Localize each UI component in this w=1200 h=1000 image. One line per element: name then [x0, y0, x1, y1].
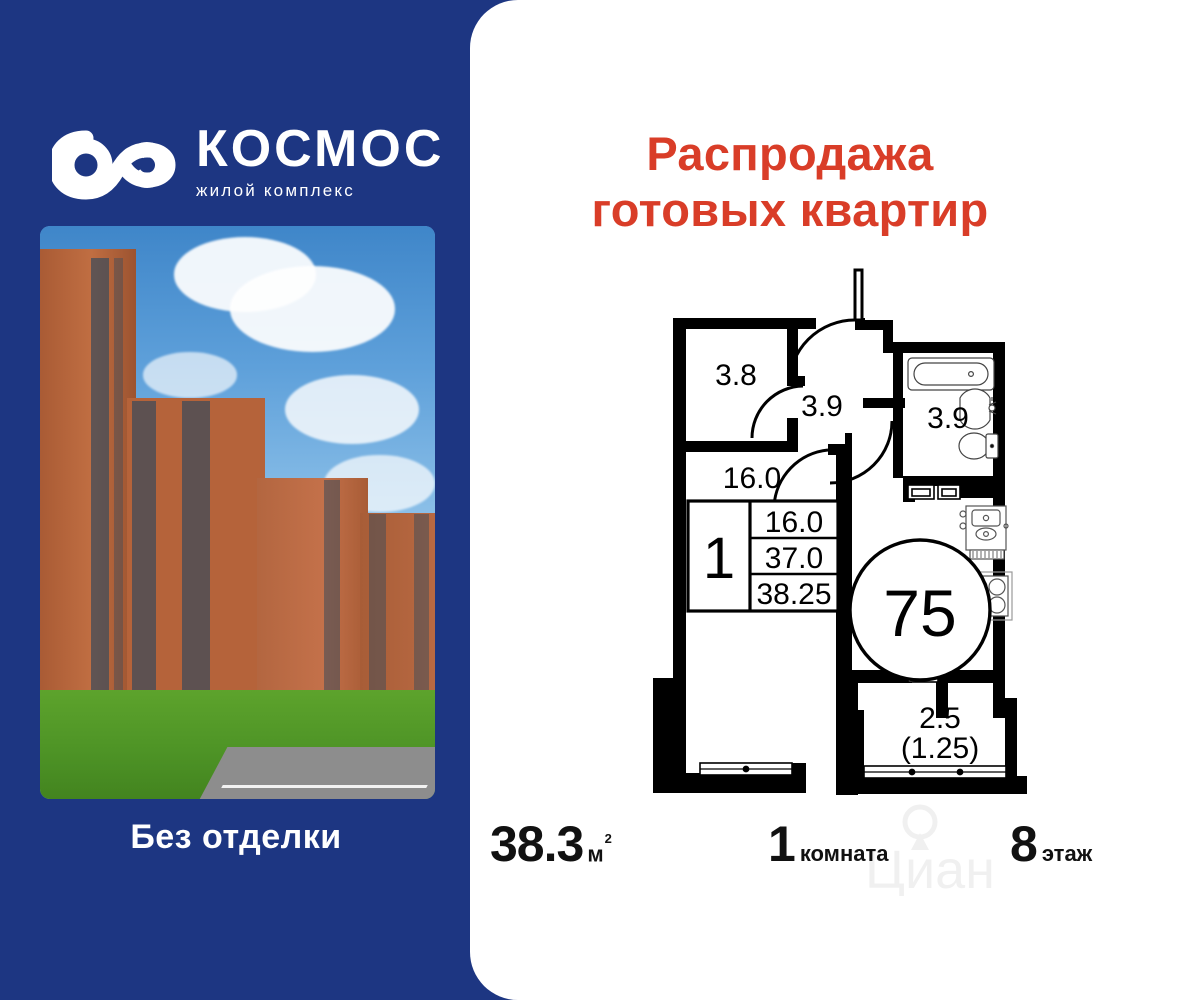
room-area-coef-label: (1.25) — [901, 732, 979, 765]
spec-floor-unit: этаж — [1042, 841, 1092, 867]
svg-text:37.0: 37.0 — [765, 542, 823, 575]
room-area-label: 3.9 — [801, 390, 843, 423]
spec-area-unit: м2 — [587, 841, 611, 867]
room-area-label: 16.0 — [723, 462, 781, 495]
photo-road — [200, 747, 435, 799]
svg-text:38.25: 38.25 — [756, 578, 831, 611]
cloud — [143, 352, 238, 398]
building-photo — [40, 226, 435, 799]
infinity-icon — [52, 126, 182, 204]
promo-headline-line1: Распродажа — [470, 126, 1110, 182]
room-area-label: 2.5 — [919, 702, 961, 735]
brand-text: КОСМОС жилой комплекс — [196, 120, 496, 202]
building-block — [127, 398, 265, 707]
spec-row: 38.3 м2 1 комната 8 этаж — [490, 815, 1200, 889]
spec-area-value: 38.3 — [490, 815, 583, 873]
building-block — [40, 249, 136, 707]
building-block — [257, 478, 368, 707]
brand-logo: КОСМОС жилой комплекс — [52, 120, 442, 212]
spec-rooms-value: 1 — [768, 815, 795, 873]
spec-floor: 8 этаж — [1010, 815, 1092, 873]
photo-road-marking — [221, 785, 428, 788]
svg-text:75: 75 — [883, 576, 956, 650]
building-block — [360, 513, 435, 708]
spec-rooms: 1 комната — [768, 815, 889, 873]
left-brand-panel: КОСМОС жилой комплекс Без отделки — [0, 0, 472, 1000]
spec-area: 38.3 м2 — [490, 815, 611, 873]
photo-caption: Без отделки — [0, 818, 472, 857]
svg-text:16.0: 16.0 — [765, 506, 823, 539]
room-area-label: 3.8 — [715, 359, 757, 392]
floor-plan: 3.8 3.9 3.9 16.0 9.4 2.5 (1.25) 75 1 16 — [640, 258, 1040, 806]
listing-card: Распродажа готовых квартир — [470, 0, 1200, 1000]
brand-tagline: жилой комплекс — [196, 180, 496, 202]
cloud — [230, 266, 396, 352]
apartment-number-badge: 75 — [850, 540, 990, 680]
promo-headline: Распродажа готовых квартир — [470, 126, 1110, 238]
spec-rooms-unit: комната — [800, 841, 889, 867]
room-area-label: 3.9 — [927, 402, 969, 435]
brand-wordmark: КОСМОС — [196, 120, 496, 178]
floorplan-info-box: 1 16.0 37.0 38.25 — [688, 501, 838, 611]
spec-floor-value: 8 — [1010, 815, 1037, 873]
cloud — [285, 375, 419, 444]
svg-text:1: 1 — [703, 526, 735, 591]
promo-headline-line2: готовых квартир — [470, 182, 1110, 238]
